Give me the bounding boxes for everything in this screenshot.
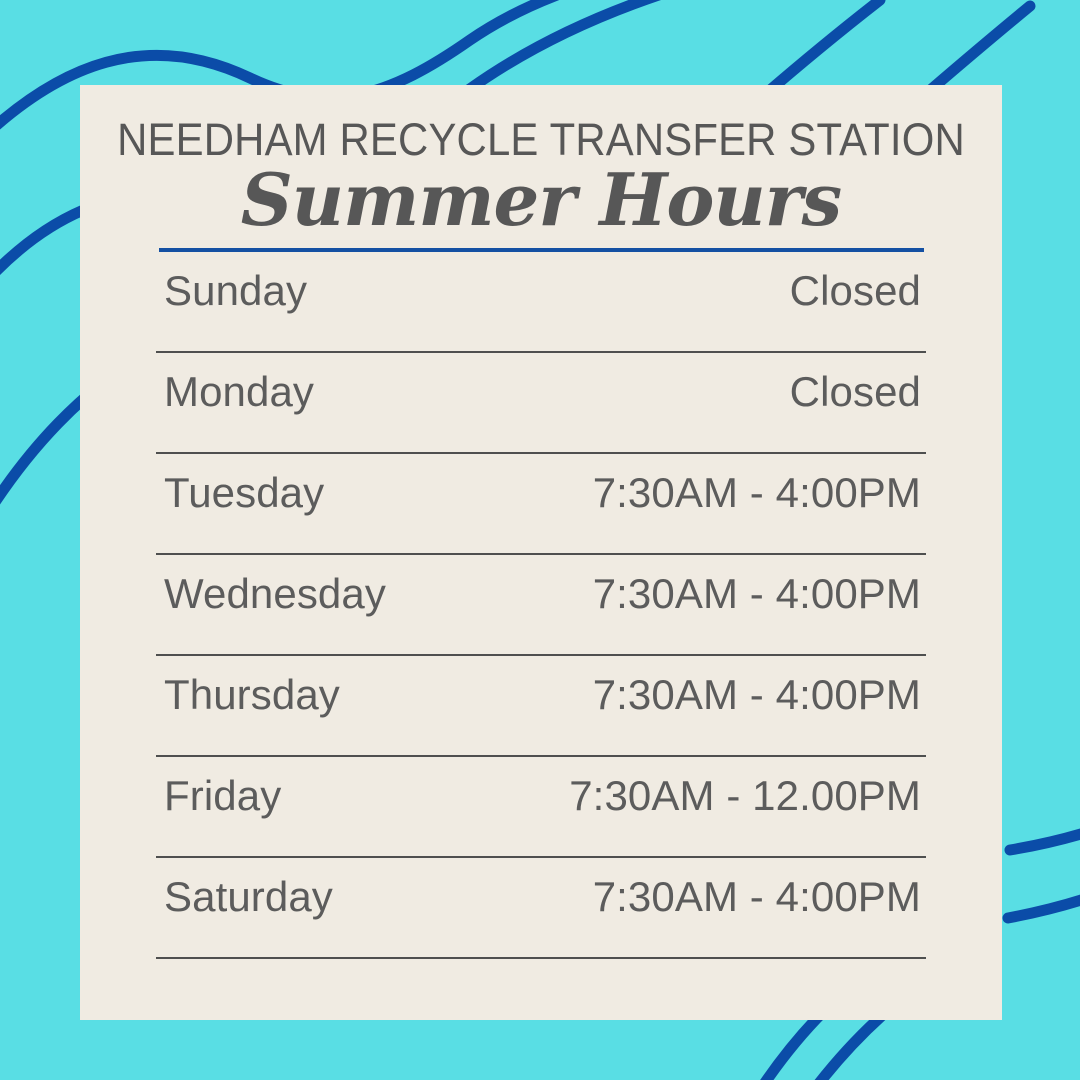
hours-row: Friday 7:30AM - 12.00PM	[156, 757, 926, 858]
hours-value: 7:30AM - 4:00PM	[593, 873, 921, 921]
hours-row: Tuesday 7:30AM - 4:00PM	[156, 454, 926, 555]
hours-row: Saturday 7:30AM - 4:00PM	[156, 858, 926, 959]
day-label: Saturday	[164, 873, 333, 921]
poster-canvas: NEEDHAM RECYCLE TRANSFER STATION Summer …	[0, 0, 1080, 1080]
hours-value: Closed	[790, 267, 921, 315]
hours-value: 7:30AM - 4:00PM	[593, 469, 921, 517]
hours-value: 7:30AM - 4:00PM	[593, 570, 921, 618]
hours-card: NEEDHAM RECYCLE TRANSFER STATION Summer …	[80, 85, 1002, 1020]
day-label: Thursday	[164, 671, 340, 719]
hours-row: Wednesday 7:30AM - 4:00PM	[156, 555, 926, 656]
card-header: NEEDHAM RECYCLE TRANSFER STATION Summer …	[80, 85, 1002, 252]
hours-row: Sunday Closed	[156, 252, 926, 353]
day-label: Tuesday	[164, 469, 324, 517]
day-label: Friday	[164, 772, 281, 820]
hours-value: 7:30AM - 4:00PM	[593, 671, 921, 719]
summer-hours-title: Summer Hours	[80, 162, 1002, 238]
row-divider	[156, 957, 926, 959]
day-label: Sunday	[164, 267, 307, 315]
day-label: Wednesday	[164, 570, 386, 618]
hours-row: Thursday 7:30AM - 4:00PM	[156, 656, 926, 757]
hours-list: Sunday Closed Monday Closed Tuesday 7:30…	[156, 252, 926, 959]
station-name-heading: NEEDHAM RECYCLE TRANSFER STATION	[112, 114, 969, 166]
hours-row: Monday Closed	[156, 353, 926, 454]
day-label: Monday	[164, 368, 314, 416]
hours-value: 7:30AM - 12.00PM	[569, 772, 921, 820]
hours-value: Closed	[790, 368, 921, 416]
